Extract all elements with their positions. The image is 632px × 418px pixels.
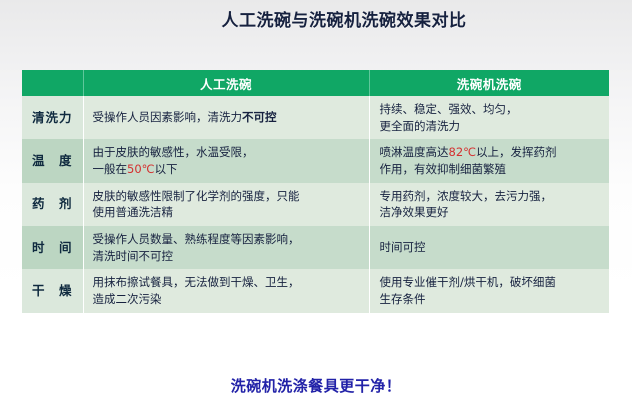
cell-line: 由于皮肤的敏感性，水温受限， <box>93 144 369 161</box>
cell-text: 受操作人员因素影响，清洗力 <box>93 110 243 124</box>
cell-line: 使用专业催干剂/烘干机，破坏细菌 <box>380 274 610 291</box>
row-label-drying: 干 燥 <box>22 269 83 312</box>
cell-line: 使用普通洗洁精 <box>93 204 369 221</box>
cell-dishwasher-detergent: 专用药剂，浓度较大，去污力强， 洁净效果更好 <box>369 183 609 226</box>
cell-manual-temperature: 由于皮肤的敏感性，水温受限， 一般在50℃以下 <box>83 139 369 182</box>
cell-line: 受操作人员因素影响，清洗力不可控 <box>93 109 369 126</box>
cell-line: 受操作人员数量、熟练程度等因素影响， <box>93 231 369 248</box>
row-label-detergent: 药 剂 <box>22 183 83 226</box>
cell-emphasis: 不可控 <box>242 110 277 124</box>
cell-line: 作用，有效抑制细菌繁殖 <box>380 161 610 178</box>
cell-manual-time: 受操作人员数量、熟练程度等因素影响， 清洗时间不可控 <box>83 226 369 269</box>
row-label-temperature: 温 度 <box>22 139 83 182</box>
table-header-row: 人工洗碗 洗碗机洗碗 <box>22 70 609 96</box>
cell-dishwasher-drying: 使用专业催干剂/烘干机，破坏细菌 生存条件 <box>369 269 609 312</box>
cell-manual-cleaning-power: 受操作人员因素影响，清洗力不可控 <box>83 96 369 139</box>
cell-text: 以下 <box>155 162 178 176</box>
column-header-dishwasher: 洗碗机洗碗 <box>369 70 609 96</box>
comparison-table: 人工洗碗 洗碗机洗碗 清洗力 受操作人员因素影响，清洗力不可控 持续、稳定、强效… <box>22 70 609 313</box>
row-label-cleaning-power: 清洗力 <box>22 96 83 139</box>
cell-line: 专用药剂，浓度较大，去污力强， <box>380 188 610 205</box>
page-title: 人工洗碗与洗碗机洗碗效果对比 <box>0 6 632 31</box>
table-row: 时 间 受操作人员数量、熟练程度等因素影响， 清洗时间不可控 时间可控 <box>22 226 609 269</box>
column-header-blank <box>22 70 83 96</box>
table-body: 清洗力 受操作人员因素影响，清洗力不可控 持续、稳定、强效、均匀， 更全面的清洗… <box>22 96 609 313</box>
cell-dishwasher-time: 时间可控 <box>369 226 609 269</box>
table-row: 温 度 由于皮肤的敏感性，水温受限， 一般在50℃以下 喷淋温度高达82℃以上，… <box>22 139 609 182</box>
table-header: 人工洗碗 洗碗机洗碗 <box>22 70 609 96</box>
cell-line: 喷淋温度高达82℃以上，发挥药剂 <box>380 144 610 161</box>
table-row: 药 剂 皮肤的敏感性限制了化学剂的强度，只能 使用普通洗洁精 专用药剂，浓度较大… <box>22 183 609 226</box>
cell-highlight-temp: 82℃ <box>449 145 477 159</box>
cell-line: 更全面的清洗力 <box>380 118 610 135</box>
cell-manual-drying: 用抹布擦试餐具，无法做到干燥、卫生， 造成二次污染 <box>83 269 369 312</box>
table-row: 清洗力 受操作人员因素影响，清洗力不可控 持续、稳定、强效、均匀， 更全面的清洗… <box>22 96 609 139</box>
cell-line: 时间可控 <box>380 239 610 256</box>
cell-line: 造成二次污染 <box>93 291 369 308</box>
cell-text: 一般在 <box>93 162 128 176</box>
table-row: 干 燥 用抹布擦试餐具，无法做到干燥、卫生， 造成二次污染 使用专业催干剂/烘干… <box>22 269 609 312</box>
cell-line: 持续、稳定、强效、均匀， <box>380 101 610 118</box>
cell-text: 以上，发挥药剂 <box>476 145 557 159</box>
cell-line: 皮肤的敏感性限制了化学剂的强度，只能 <box>93 188 369 205</box>
cell-line: 清洗时间不可控 <box>93 248 369 265</box>
cell-line: 生存条件 <box>380 291 610 308</box>
row-label-time: 时 间 <box>22 226 83 269</box>
conclusion-text: 洗碗机洗涤餐具更干净！ <box>0 375 632 396</box>
cell-dishwasher-temperature: 喷淋温度高达82℃以上，发挥药剂 作用，有效抑制细菌繁殖 <box>369 139 609 182</box>
cell-line: 一般在50℃以下 <box>93 161 369 178</box>
cell-line: 洁净效果更好 <box>380 204 610 221</box>
cell-dishwasher-cleaning-power: 持续、稳定、强效、均匀， 更全面的清洗力 <box>369 96 609 139</box>
column-header-manual-wash: 人工洗碗 <box>83 70 369 96</box>
comparison-table-container: 人工洗碗 洗碗机洗碗 清洗力 受操作人员因素影响，清洗力不可控 持续、稳定、强效… <box>22 70 609 313</box>
cell-highlight-temp: 50℃ <box>127 162 155 176</box>
cell-manual-detergent: 皮肤的敏感性限制了化学剂的强度，只能 使用普通洗洁精 <box>83 183 369 226</box>
cell-line: 用抹布擦试餐具，无法做到干燥、卫生， <box>93 274 369 291</box>
cell-text: 喷淋温度高达 <box>380 145 449 159</box>
